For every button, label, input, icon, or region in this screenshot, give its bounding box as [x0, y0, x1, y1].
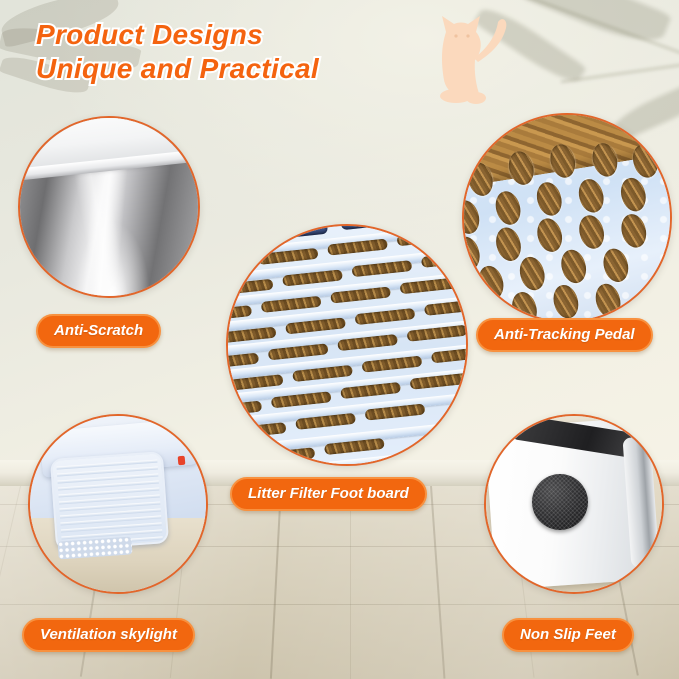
feature-label-litter-filter-foot-board[interactable]: Litter Filter Foot board: [230, 477, 427, 511]
feature-label-ventilation-skylight[interactable]: Ventilation skylight: [22, 618, 195, 652]
title-line-1: Product Designs: [36, 19, 263, 50]
red-tab-icon: [178, 456, 186, 466]
feature-image-ventilation-skylight: [28, 414, 208, 594]
filter-slats-group: [226, 224, 468, 466]
title-line-2: Unique and Practical: [36, 52, 456, 86]
feature-label-non-slip-feet[interactable]: Non Slip Feet: [502, 618, 634, 652]
pedal-holes-group: [462, 130, 672, 323]
feature-image-non-slip-feet: [484, 414, 664, 594]
feature-label-anti-tracking-pedal[interactable]: Anti-Tracking Pedal: [476, 318, 653, 352]
feature-label-anti-scratch[interactable]: Anti-Scratch: [36, 314, 161, 348]
rubber-foot-pad-icon: [532, 474, 588, 530]
page-title: Product Designs Unique and Practical: [36, 18, 456, 86]
product-infographic: Product Designs Unique and Practical Ant…: [0, 0, 679, 679]
feature-image-anti-tracking-pedal: [462, 113, 672, 323]
feature-image-litter-filter-foot-board: [226, 224, 468, 466]
feature-image-anti-scratch: [18, 116, 200, 298]
vent-panel: [50, 451, 169, 551]
